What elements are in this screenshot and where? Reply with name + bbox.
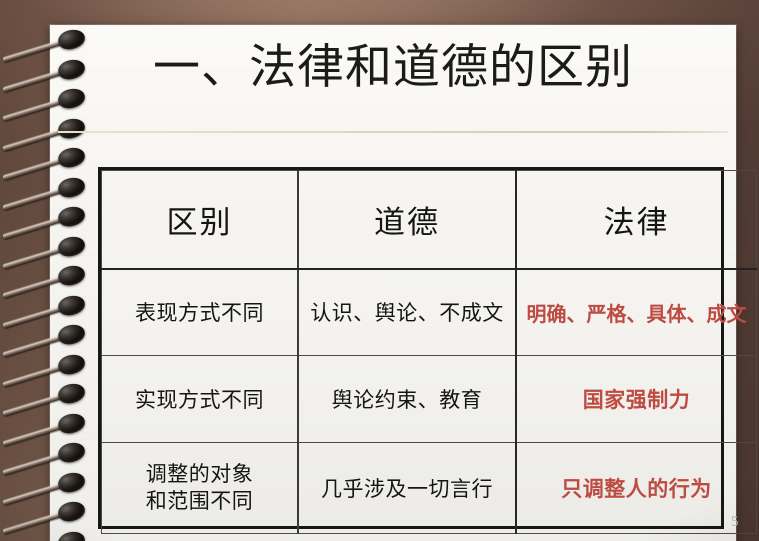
title-divider [58, 131, 728, 133]
cell-aspect-3-line2: 和范围不同 [106, 488, 293, 515]
table-row: 表现方式不同 认识、舆论、不成文 明确、严格、具体、成文 [102, 269, 757, 356]
header-cell-aspect: 区别 [102, 171, 299, 269]
table-header-row: 区别 道德 法律 [102, 171, 757, 269]
comparison-table: 区别 道德 法律 表现方式不同 认识、舆论、不成文 明确、严格、具体、成文 实现… [98, 167, 724, 529]
title-block: 一、法律和道德的区别 [50, 44, 736, 93]
cell-morality-1: 认识、舆论、不成文 [298, 269, 516, 356]
page-title: 一、法律和道德的区别 [50, 44, 736, 93]
cell-aspect-3: 调整的对象 和范围不同 [102, 443, 299, 534]
table: 区别 道德 法律 表现方式不同 认识、舆论、不成文 明确、严格、具体、成文 实现… [101, 170, 757, 534]
cell-law-1: 明确、严格、具体、成文 [516, 269, 757, 356]
cell-law-3: 只调整人的行为 [516, 443, 757, 534]
header-cell-law: 法律 [516, 171, 757, 269]
page-number: 5 [731, 514, 739, 531]
cell-law-2: 国家强制力 [516, 356, 757, 443]
cell-aspect-1: 表现方式不同 [102, 269, 299, 356]
table-row: 实现方式不同 舆论约束、教育 国家强制力 [102, 356, 757, 443]
slide-canvas: 一、法律和道德的区别 区别 道德 法律 表现方式不同 认识、舆论、不成文 明确、… [0, 0, 759, 541]
cell-morality-2: 舆论约束、教育 [298, 356, 516, 443]
cell-aspect-2: 实现方式不同 [102, 356, 299, 443]
cell-aspect-3-line1: 调整的对象 [106, 461, 293, 488]
table-row: 调整的对象 和范围不同 几乎涉及一切言行 只调整人的行为 [102, 443, 757, 534]
cell-morality-3: 几乎涉及一切言行 [298, 443, 516, 534]
header-cell-morality: 道德 [298, 171, 516, 269]
